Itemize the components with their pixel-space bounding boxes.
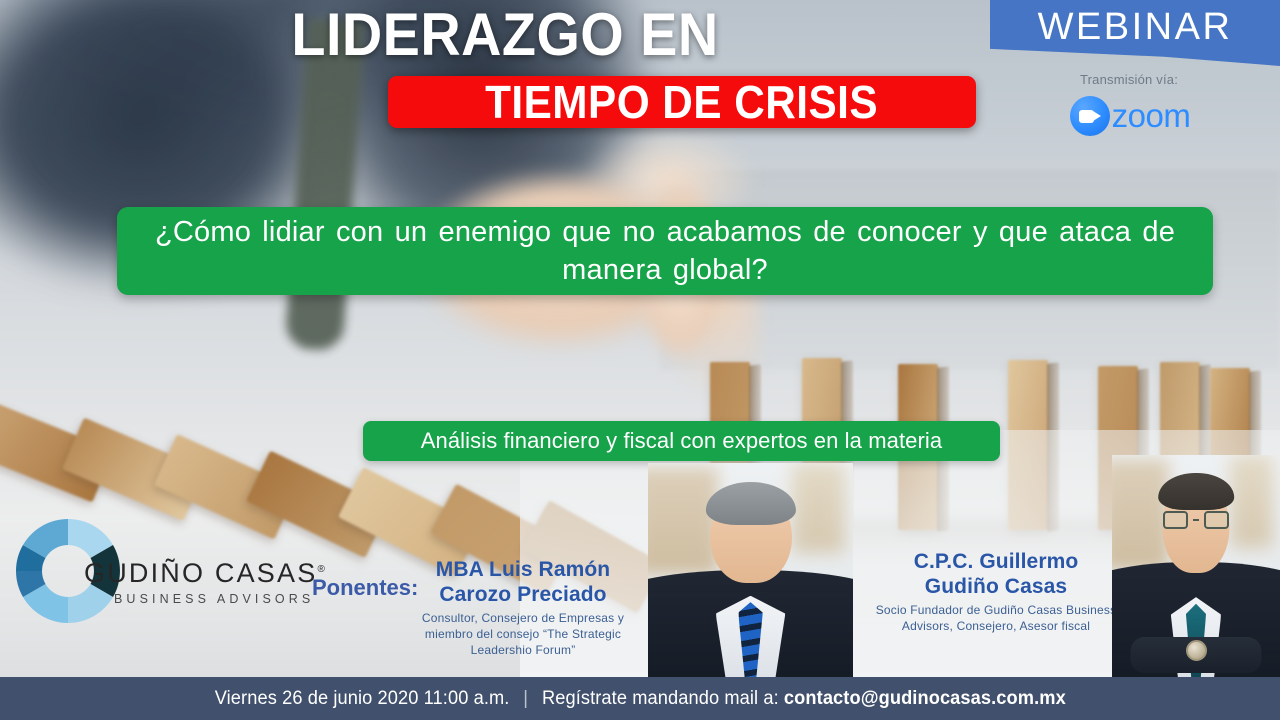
speaker-name-line2: Gudiño Casas: [870, 574, 1122, 599]
webinar-label: WEBINAR: [990, 6, 1280, 49]
logo-tagline: BUSINESS ADVISORS: [114, 592, 327, 606]
speaker-name-line2: Carozo Preciado: [398, 582, 648, 607]
speaker-name: MBA Luis Ramón Carozo Preciado: [398, 557, 648, 607]
webinar-banner: WEBINAR: [990, 0, 1280, 66]
headline-highlight-box: TIEMPO DE CRISIS: [388, 76, 976, 128]
speaker-photo-guillermo-gudino: [1112, 455, 1280, 677]
subtitle-text: Análisis financiero y fiscal con experto…: [421, 428, 943, 454]
speaker-role: Socio Fundador de Gudiño Casas Business …: [870, 602, 1122, 634]
subtitle-strip: Análisis financiero y fiscal con experto…: [363, 421, 1000, 461]
transmission-label: Transmisión vía:: [984, 72, 1274, 87]
zoom-wordmark: zoom: [1112, 97, 1191, 135]
footer-separator: |: [523, 688, 528, 709]
speaker-photo-luis-ramon-carozo: [648, 463, 853, 677]
registered-mark: ®: [317, 564, 327, 575]
headline-line-2: TIEMPO DE CRISIS: [485, 79, 878, 125]
speaker-name-line1: MBA Luis Ramón: [398, 557, 648, 582]
company-logo: GUDIÑO CASAS® BUSINESS ADVISORS: [12, 512, 282, 640]
zoom-logo: zoom: [984, 96, 1276, 136]
headline-line-1: LIDERAZGO EN: [35, 2, 974, 68]
question-text: ¿Cómo lidiar con un enemigo que no acaba…: [131, 213, 1199, 289]
webinar-poster: LIDERAZGO EN TIEMPO DE CRISIS WEBINAR Tr…: [0, 0, 1280, 720]
eyeglasses-icon: [1163, 511, 1229, 529]
speaker-name: C.P.C. Guillermo Gudiño Casas: [870, 549, 1122, 599]
speaker-role: Consultor, Consejero de Empresas y miemb…: [398, 610, 648, 658]
footer-bar: Viernes 26 de junio 2020 11:00 a.m. | Re…: [0, 677, 1280, 720]
speaker-block-left: MBA Luis Ramón Carozo Preciado Consultor…: [398, 557, 648, 658]
webinar-badge: WEBINAR Transmisión vía: zoom: [984, 0, 1280, 150]
footer-datetime: Viernes 26 de junio 2020 11:00 a.m.: [214, 688, 509, 709]
zoom-camera-icon: [1070, 96, 1110, 136]
footer-cta: Regístrate mandando mail a:: [542, 688, 779, 709]
question-box: ¿Cómo lidiar con un enemigo que no acaba…: [117, 207, 1213, 295]
speaker-name-line1: C.P.C. Guillermo: [870, 549, 1122, 574]
logo-company-name: GUDIÑO CASAS®: [84, 558, 327, 589]
footer-email[interactable]: contacto@gudinocasas.com.mx: [784, 688, 1066, 709]
speaker-block-right: C.P.C. Guillermo Gudiño Casas Socio Fund…: [870, 549, 1122, 634]
